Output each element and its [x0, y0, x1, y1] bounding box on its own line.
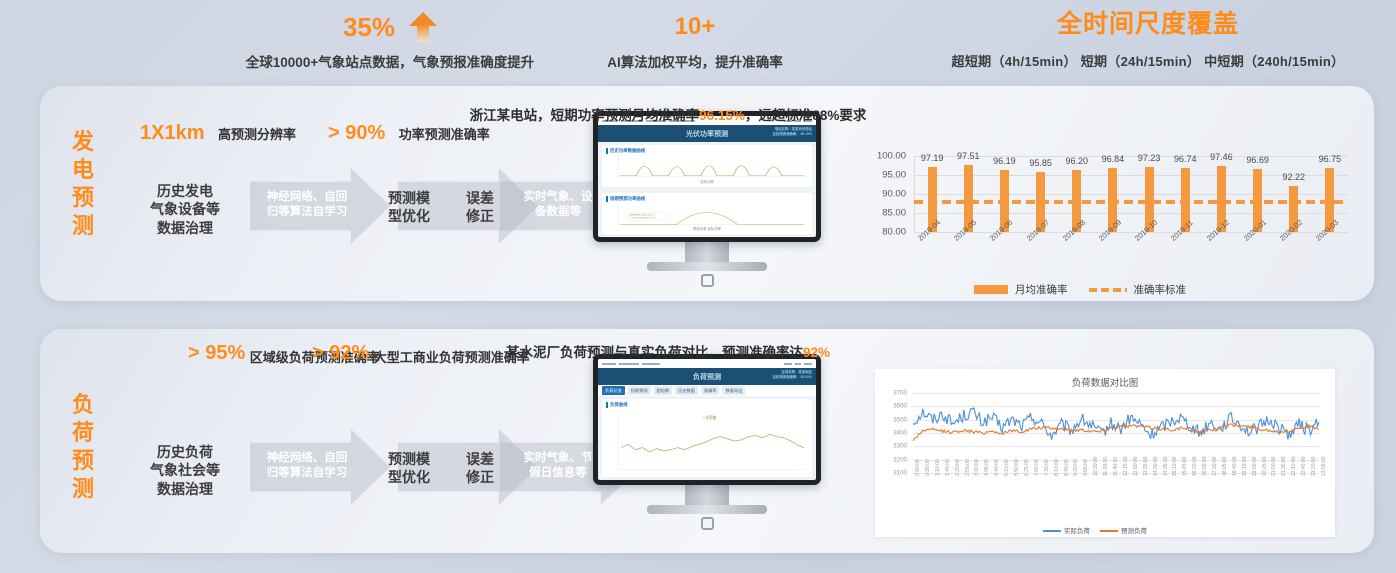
flow-text-line: 数据治理	[157, 481, 213, 497]
flow-stage-2: 预测模型优化	[370, 450, 448, 487]
card-legend: 实际功率	[606, 179, 808, 184]
line-chart-x-tick: 15:45:00	[1182, 457, 1188, 476]
line-chart-x-tick: 8:45:00	[1064, 459, 1070, 476]
line-chart-x-tick: 19:15:00	[1242, 457, 1248, 476]
line-chart-x-tick: 4:40:00	[994, 459, 1000, 476]
dashboard-tab-1[interactable]: 短期预测	[628, 386, 651, 395]
line-chart-x-tick: 0:35:00	[925, 459, 931, 476]
line-chart-x-tick: 7:00:00	[1034, 459, 1040, 476]
line-chart-x-tick: 12:15:00	[1123, 457, 1129, 476]
panel-title-char: 预	[68, 184, 98, 212]
line-chart-x-tick: 18:05:00	[1222, 457, 1228, 476]
line-chart-x-tick: 3:30:00	[974, 459, 980, 476]
panel-load-forecast: 负 荷 预 测 > 95% 区域级负荷预测准确率 > 92% 大型工商业负荷预测…	[40, 329, 1374, 553]
line-chart-x-tick: 21:35:00	[1281, 457, 1287, 476]
bar-chart-gridline	[914, 194, 1348, 195]
flow-text-line: 神经网络、自回	[267, 191, 348, 203]
monitor-mockup-generation: 光伏功率预测 电站名称：某某光伏电站 当前预测准确率： 96.15% 历史功率数…	[593, 111, 821, 287]
flow-text-line: 误差	[466, 451, 494, 467]
flow-text-line: 备数据等	[535, 206, 581, 218]
monitor-neck	[685, 242, 729, 262]
line-chart-x-tick: 16:55:00	[1202, 457, 1208, 476]
panel-title-char: 荷	[68, 419, 98, 447]
legend-swatch-1	[1100, 530, 1118, 532]
card-plot: + 负荷值	[606, 408, 808, 474]
bar-chart-gridline	[914, 213, 1348, 214]
bar-chart-value-label: 96.19	[993, 156, 1016, 166]
legend-item-1: 预测负荷	[1100, 525, 1147, 535]
kpi-value: > 95%	[188, 342, 245, 365]
line-chart-x-tick: 10:30:00	[1093, 457, 1099, 476]
bar-chart-value-label: 96.74	[1174, 154, 1197, 164]
line-chart-x-tick: 17:30:00	[1212, 457, 1218, 476]
line-chart-x-tick: 18:40:00	[1232, 457, 1238, 476]
dashboard-meta-line2: 当前预测准确率： 96.15%	[772, 132, 812, 136]
legend-swatch-0	[1043, 530, 1061, 532]
flow-text-line: 神经网络、自回	[267, 452, 348, 464]
bar-chart-value-label: 97.23	[1138, 153, 1161, 163]
chart-caption-generation: 浙江某电站，短期功率预测月均准确率96.15%，远超标准88%要求	[408, 104, 928, 124]
dashboard-title-bar: 负荷预测 区域名称：某某地区 当前预测准确率： 92.00%	[598, 368, 816, 385]
dashboard-title: 光伏功率预测	[686, 129, 728, 139]
line-chart-x-tick: 5:50:00	[1014, 459, 1020, 476]
dashboard-meta-line1: 区域名称：某某地区	[781, 370, 812, 374]
bar-chart-value-label: 97.51	[957, 151, 980, 161]
dashboard-meta-line2: 当前预测准确率： 92.00%	[772, 375, 812, 379]
legend-swatch-bar	[974, 285, 1008, 294]
flow-text-line: 误差	[466, 190, 494, 206]
flow-connector-2: 实时气象、设备数据等	[506, 190, 610, 220]
panel-title-vertical: 发 电 预 测	[68, 128, 98, 241]
kpi-regional-load: > 95% 区域级负荷预测准确率	[188, 341, 328, 366]
legend-swatch-dashed	[1089, 288, 1127, 292]
line-chart-legend: 实际负荷预测负荷	[1043, 525, 1147, 535]
chart-caption-highlight: 96.15%	[699, 108, 745, 123]
dashboard-meta: 电站名称：某某光伏电站 当前预测准确率： 96.15%	[772, 127, 812, 137]
panel-title-char: 预	[68, 447, 98, 475]
header-metric-value: 35%	[343, 14, 395, 40]
chart-caption-pre: 浙江某电站，短期功率预测月均准确率	[470, 108, 700, 123]
arrow-up-icon	[409, 12, 437, 42]
panel-power-generation-forecast: 发 电 预 测 1X1km 高预测分辨率 > 90% 功率预测准确率 历史发电气…	[40, 86, 1374, 301]
flow-text-line: 数据治理	[157, 220, 213, 236]
flow-stage-1: 历史负荷气象社会等数据治理	[130, 443, 240, 498]
chart-caption-highlight: 92%	[803, 345, 830, 360]
monitor-power-button	[701, 517, 714, 530]
kpi-resolution: 1X1km 高预测分辨率	[140, 122, 296, 145]
flow-text-line: 归等算法自学习	[267, 206, 348, 218]
flow-stage-3: 误差修正	[452, 189, 508, 226]
line-chart-x-tick: 4:05:00	[984, 459, 990, 476]
bar-chart-value-label: 97.19	[921, 153, 944, 163]
header-metric-timescale: 全时间尺度覆盖 超短期（4h/15min） 短期（24h/15min） 中短期（…	[900, 7, 1396, 70]
line-chart-x-tick: 13:25:00	[1143, 457, 1149, 476]
legend-item-0: 实际负荷	[1043, 525, 1090, 535]
card-plot	[606, 154, 808, 179]
kpi-label: 功率预测准确率	[399, 124, 490, 143]
dashboard-meta: 区域名称：某某地区 当前预测准确率： 92.00%	[772, 370, 812, 380]
line-chart-load-comparison: 负荷数据对比图 31003200330034003500360037000:00…	[875, 369, 1335, 537]
line-chart-x-tick: 16:20:00	[1192, 457, 1198, 476]
header-metric-value: 全时间尺度覆盖	[900, 7, 1396, 41]
flow-connector-1: 神经网络、自回归等算法自学习	[248, 190, 366, 220]
kpi-label: 高预测分辨率	[218, 124, 296, 143]
flow-text-line: 气象设备等	[150, 201, 220, 217]
header-metric-value: 10+	[565, 10, 825, 44]
monitor-base	[647, 505, 767, 514]
flow-text-line: 历史负荷	[157, 444, 213, 460]
line-chart-x-tick: 1:10:00	[935, 459, 941, 476]
process-flow-generation: 历史发电气象设备等数据治理 神经网络、自回归等算法自学习 预测模型优化 误差修正…	[100, 168, 600, 244]
flow-text-line: 型优化	[388, 208, 430, 224]
panel-title-char: 电	[68, 156, 98, 184]
bar-chart-y-tick: 90.00	[882, 189, 906, 200]
kpi-value: 1X1km	[140, 122, 205, 145]
bar-chart-legend: 月均准确率准确率标准	[974, 282, 1186, 297]
line-chart-x-tick: 20:25:00	[1262, 457, 1268, 476]
dashboard-title-bar: 光伏功率预测 电站名称：某某光伏电站 当前预测准确率： 96.15%	[598, 125, 816, 142]
dashboard-tab-3[interactable]: 历史数据	[675, 386, 698, 395]
line-chart-x-tick: 21:00:00	[1271, 457, 1277, 476]
panel-title-char: 测	[68, 212, 98, 240]
bar-chart-value-label: 96.75	[1319, 154, 1342, 164]
bar-chart-y-tick: 100.00	[877, 151, 906, 162]
bar-chart-y-tick: 85.00	[882, 208, 906, 219]
dashboard-tab-5[interactable]: 数据导出	[722, 386, 745, 395]
chart-caption-load: 某水泥厂负荷预测与真实负荷对比，预测准确率达92%	[408, 341, 928, 361]
flow-text-line: 实时气象、设	[524, 191, 593, 203]
flow-stage-1: 历史发电气象设备等数据治理	[130, 182, 240, 237]
line-chart-x-tick: 14:00:00	[1153, 457, 1159, 476]
line-chart-x-tick: 7:35:00	[1044, 459, 1050, 476]
header-metric-caption: AI算法加权平均，提升准确率	[565, 51, 825, 71]
line-chart-x-tick: 22:45:00	[1301, 457, 1307, 476]
panel-title-char: 发	[68, 128, 98, 156]
line-chart-x-tick: 23:55:00	[1321, 457, 1327, 476]
flow-stage-3: 误差修正	[452, 450, 508, 487]
line-chart-x-tick: 14:35:00	[1163, 457, 1169, 476]
panel-title-char: 负	[68, 391, 98, 419]
bar-chart-standard-line	[914, 200, 1348, 204]
bar-chart-value-label: 96.20	[1065, 156, 1088, 166]
line-chart-x-tick: 6:25:00	[1024, 459, 1030, 476]
dashboard-tab-4[interactable]: 准确率	[701, 386, 720, 395]
flow-connector-2: 实时气象、节假日信息等	[506, 451, 610, 481]
process-flow-load: 历史负荷气象社会等数据治理 神经网络、自回归等算法自学习 预测模型优化 误差修正…	[100, 429, 600, 505]
line-chart-x-tick: 23:20:00	[1311, 457, 1317, 476]
line-chart-x-tick: 5:15:00	[1004, 459, 1010, 476]
line-chart-x-tick: 1:45:00	[945, 459, 951, 476]
line-chart-series-0	[913, 408, 1319, 440]
line-chart-x-tick: 0:00:00	[915, 459, 921, 476]
header-metric-caption: 超短期（4h/15min） 短期（24h/15min） 中短期（240h/15m…	[900, 51, 1396, 70]
line-chart-x-tick: 11:40:00	[1113, 457, 1119, 476]
dashboard-tab-0[interactable]: 负荷总览	[602, 386, 625, 395]
flow-text-line: 预测模	[388, 190, 430, 206]
bar-chart-value-label: 97.46	[1210, 152, 1233, 162]
line-chart-x-tick: 2:55:00	[965, 459, 971, 476]
dashboard-load: 负荷预测 区域名称：某某地区 当前预测准确率： 92.00% 负荷总览短期预测超…	[598, 359, 816, 480]
kpi-value: > 90%	[328, 122, 385, 145]
dashboard-tab-2[interactable]: 超短期	[654, 386, 673, 395]
card-plot: 预测时刻 2020-08-12 ● 预测功率(MW) 23.4	[606, 202, 808, 227]
chart-caption-post: ，远超标准88%要求	[745, 108, 867, 123]
panel-title-vertical: 负 荷 预 测	[68, 391, 98, 504]
flow-connector-1: 神经网络、自回归等算法自学习	[248, 451, 366, 481]
bar-chart-value-label: 96.84	[1102, 154, 1125, 164]
line-chart-x-tick: 19:50:00	[1252, 457, 1258, 476]
flow-stage-2: 预测模型优化	[370, 189, 448, 226]
line-chart-x-tick: 8:10:00	[1054, 459, 1060, 476]
monitor-screen: 光伏功率预测 电站名称：某某光伏电站 当前预测准确率： 96.15% 历史功率数…	[593, 111, 821, 242]
flow-text-line: 归等算法自学习	[267, 467, 348, 479]
kpi-power-accuracy: > 90% 功率预测准确率	[328, 122, 490, 145]
kpi-value: > 92%	[312, 342, 369, 365]
line-chart-x-tick: 12:50:00	[1133, 457, 1139, 476]
line-chart-x-tick: 11:05:00	[1103, 457, 1109, 476]
bar-chart-y-tick: 95.00	[882, 170, 906, 181]
dashboard-meta-line1: 电站名称：某某光伏电站	[775, 127, 812, 131]
legend-label-dashed: 准确率标准	[1134, 282, 1187, 297]
flow-text-line: 型优化	[388, 469, 430, 485]
bar-chart-monthly-accuracy: 80.0085.0090.0095.00100.0097.192019-0497…	[858, 134, 1358, 294]
monitor-power-button	[701, 274, 714, 287]
card-legend: 预测功率 实际功率	[606, 226, 808, 231]
monitor-neck	[685, 485, 729, 505]
dashboard-title: 负荷预测	[693, 372, 721, 382]
flow-text-line: 历史发电	[157, 183, 213, 199]
line-chart-title: 负荷数据对比图	[875, 369, 1335, 389]
bar-chart-value-label: 92.22	[1282, 172, 1305, 182]
panel-title-char: 测	[68, 475, 98, 503]
monitor-base	[647, 262, 767, 271]
monitor-screen: 负荷预测 区域名称：某某地区 当前预测准确率： 92.00% 负荷总览短期预测超…	[593, 354, 821, 485]
dashboard-card-forecast: 短期预测功率曲线 预测时刻 2020-08-12 ● 预测功率(MW) 23.4…	[602, 193, 812, 235]
line-chart-x-tick: 9:55:00	[1083, 459, 1089, 476]
dashboard-tabs[interactable]: 负荷总览短期预测超短期历史数据准确率数据导出	[598, 385, 816, 396]
flow-text-line: 实时气象、节	[524, 452, 593, 464]
dashboard-card-load-curve: 负荷曲线 + 负荷值	[602, 399, 812, 477]
flow-text-line: 修正	[466, 208, 494, 224]
dashboard-generation: 光伏功率预测 电站名称：某某光伏电站 当前预测准确率： 96.15% 历史功率数…	[598, 116, 816, 237]
bar-chart-value-label: 96.69	[1246, 155, 1269, 165]
bar-chart-value-label: 95.85	[1029, 158, 1052, 168]
line-chart-x-tick: 9:20:00	[1073, 459, 1079, 476]
header-metric-algorithms: 10+ AI算法加权平均，提升准确率	[565, 10, 825, 71]
dashboard-card-history: 历史功率数据曲线 实际功率	[602, 145, 812, 187]
line-chart-x-tick: 15:10:00	[1172, 457, 1178, 476]
chart-caption-pre: 某水泥厂负荷预测与真实负荷对比，预测准确率达	[506, 345, 803, 360]
legend-label-1: 预测负荷	[1121, 528, 1147, 535]
monitor-mockup-load: 负荷预测 区域名称：某某地区 当前预测准确率： 92.00% 负荷总览短期预测超…	[593, 354, 821, 530]
line-chart-plot-area: 31003200330034003500360037000:00:000:35:…	[875, 387, 1335, 537]
legend-label-0: 实际负荷	[1064, 528, 1090, 535]
line-chart-x-tick: 22:10:00	[1291, 457, 1297, 476]
svg-text:+ 负荷值: + 负荷值	[703, 415, 717, 420]
line-chart-x-tick: 2:20:00	[955, 459, 961, 476]
flow-text-line: 气象社会等	[150, 462, 220, 478]
flow-text-line: 假日信息等	[529, 467, 587, 479]
flow-text-line: 预测模	[388, 451, 430, 467]
flow-text-line: 修正	[466, 469, 494, 485]
header-metrics-strip: 35% 全球10000+气象站点数据，气象预报准确度提升 10+ AI算法加权平…	[0, 0, 1396, 86]
bar-chart-y-tick: 80.00	[882, 227, 906, 238]
legend-label-bar: 月均准确率	[1015, 282, 1068, 297]
